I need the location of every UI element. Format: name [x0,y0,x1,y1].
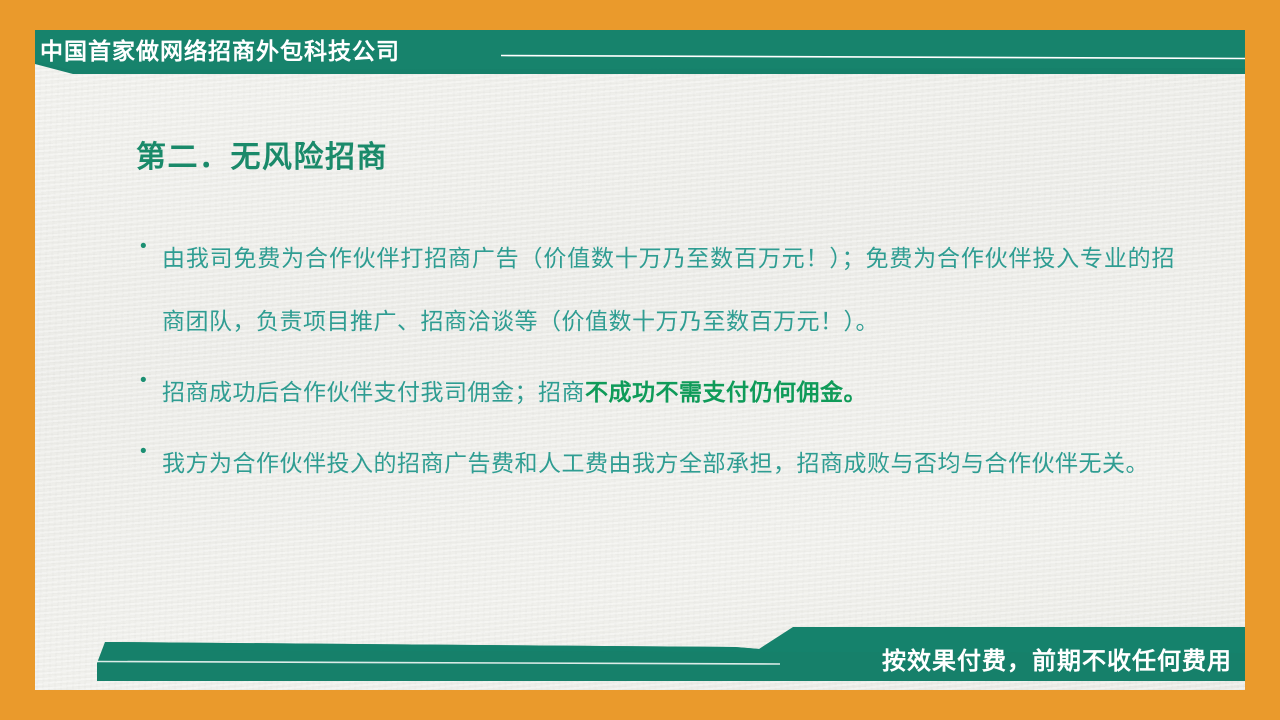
slide-heading: 第二．无风险招商 [136,138,388,178]
presentation-slide: 中国首家做网络招商外包科技公司 第二．无风险招商 •由我司免费为合作伙伴打招商广… [0,0,1280,720]
bullet-text: 招商成功后合作伙伴支付我司佣金；招商不成功不需支付仍何佣金。 [162,362,1175,425]
bullet-list: •由我司免费为合作伙伴打招商广告（价值数十万乃至数百万元！）；免费为合作伙伴投入… [140,228,1175,504]
bullet-dot-icon: • [140,362,162,386]
header-title: 中国首家做网络招商外包科技公司 [40,38,400,66]
bullet-dot-icon: • [140,228,162,252]
bullet-dot-icon: • [140,433,162,457]
bullet-text: 由我司免费为合作伙伴打招商广告（价值数十万乃至数百万元！）；免费为合作伙伴投入专… [162,228,1175,354]
bullet-plain-text: 招商成功后合作伙伴支付我司佣金；招商 [162,380,585,406]
bullet-item: •招商成功后合作伙伴支付我司佣金；招商不成功不需支付仍何佣金。 [140,362,1175,425]
bullet-item: •我方为合作伙伴投入的招商广告费和人工费由我方全部承担，招商成败与否均与合作伙伴… [140,433,1175,496]
bullet-text: 我方为合作伙伴投入的招商广告费和人工费由我方全部承担，招商成败与否均与合作伙伴无… [162,433,1175,496]
bullet-item: •由我司免费为合作伙伴打招商广告（价值数十万乃至数百万元！）；免费为合作伙伴投入… [140,228,1175,354]
bullet-plain-text: 我方为合作伙伴投入的招商广告费和人工费由我方全部承担，招商成败与否均与合作伙伴无… [162,451,1149,477]
bullet-emphasis-text: 不成功不需支付仍何佣金。 [585,380,867,406]
bullet-plain-text: 由我司免费为合作伙伴打招商广告（价值数十万乃至数百万元！）；免费为合作伙伴投入专… [162,246,1175,335]
footer-tagline: 按效果付费，前期不收任何费用 [882,646,1232,676]
